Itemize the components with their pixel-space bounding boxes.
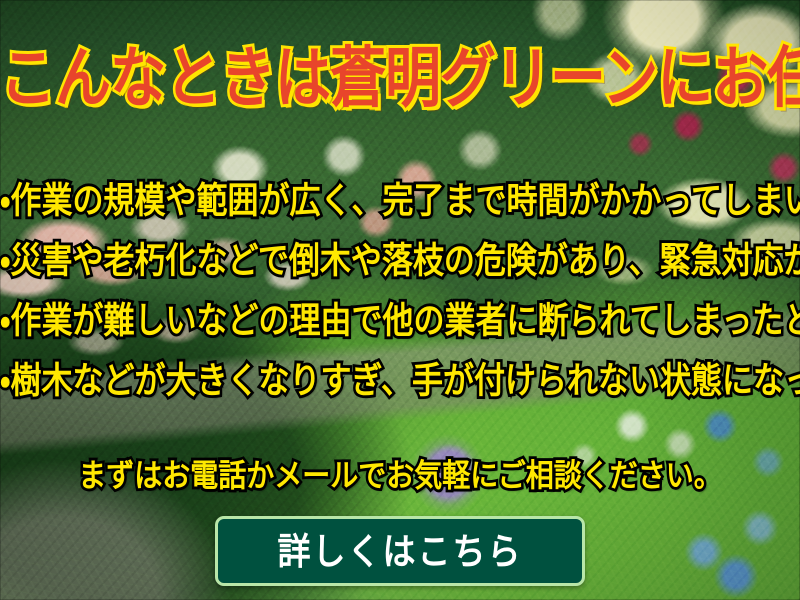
headline-text: こんなときは蒼明グリーンにお任せください！ xyxy=(0,46,800,112)
benefit-list: ・作業の規模や範囲が広く、完了まで時間がかかってしまいそうなとき ・災害や老朽化… xyxy=(0,186,800,426)
list-item: ・樹木などが大きくなりすぎ、手が付けられない状態になってしまったとき xyxy=(0,364,800,400)
closing-message: まずはお電話かメールでお気軽にご相談ください。 xyxy=(0,460,800,491)
banner-content: こんなときは蒼明グリーンにお任せください！ ・作業の規模や範囲が広く、完了まで時… xyxy=(0,0,800,600)
details-cta-button[interactable]: 詳しくはこちら xyxy=(215,516,585,586)
promo-banner: こんなときは蒼明グリーンにお任せください！ ・作業の規模や範囲が広く、完了まで時… xyxy=(0,0,800,600)
list-item: ・作業の規模や範囲が広く、完了まで時間がかかってしまいそうなとき xyxy=(0,184,800,220)
list-item: ・作業が難しいなどの理由で他の業者に断られてしまったとき xyxy=(0,304,800,340)
details-cta-label: 詳しくはこちら xyxy=(278,533,523,569)
list-item: ・災害や老朽化などで倒木や落枝の危険があり、緊急対応が必要なとき xyxy=(0,244,800,280)
